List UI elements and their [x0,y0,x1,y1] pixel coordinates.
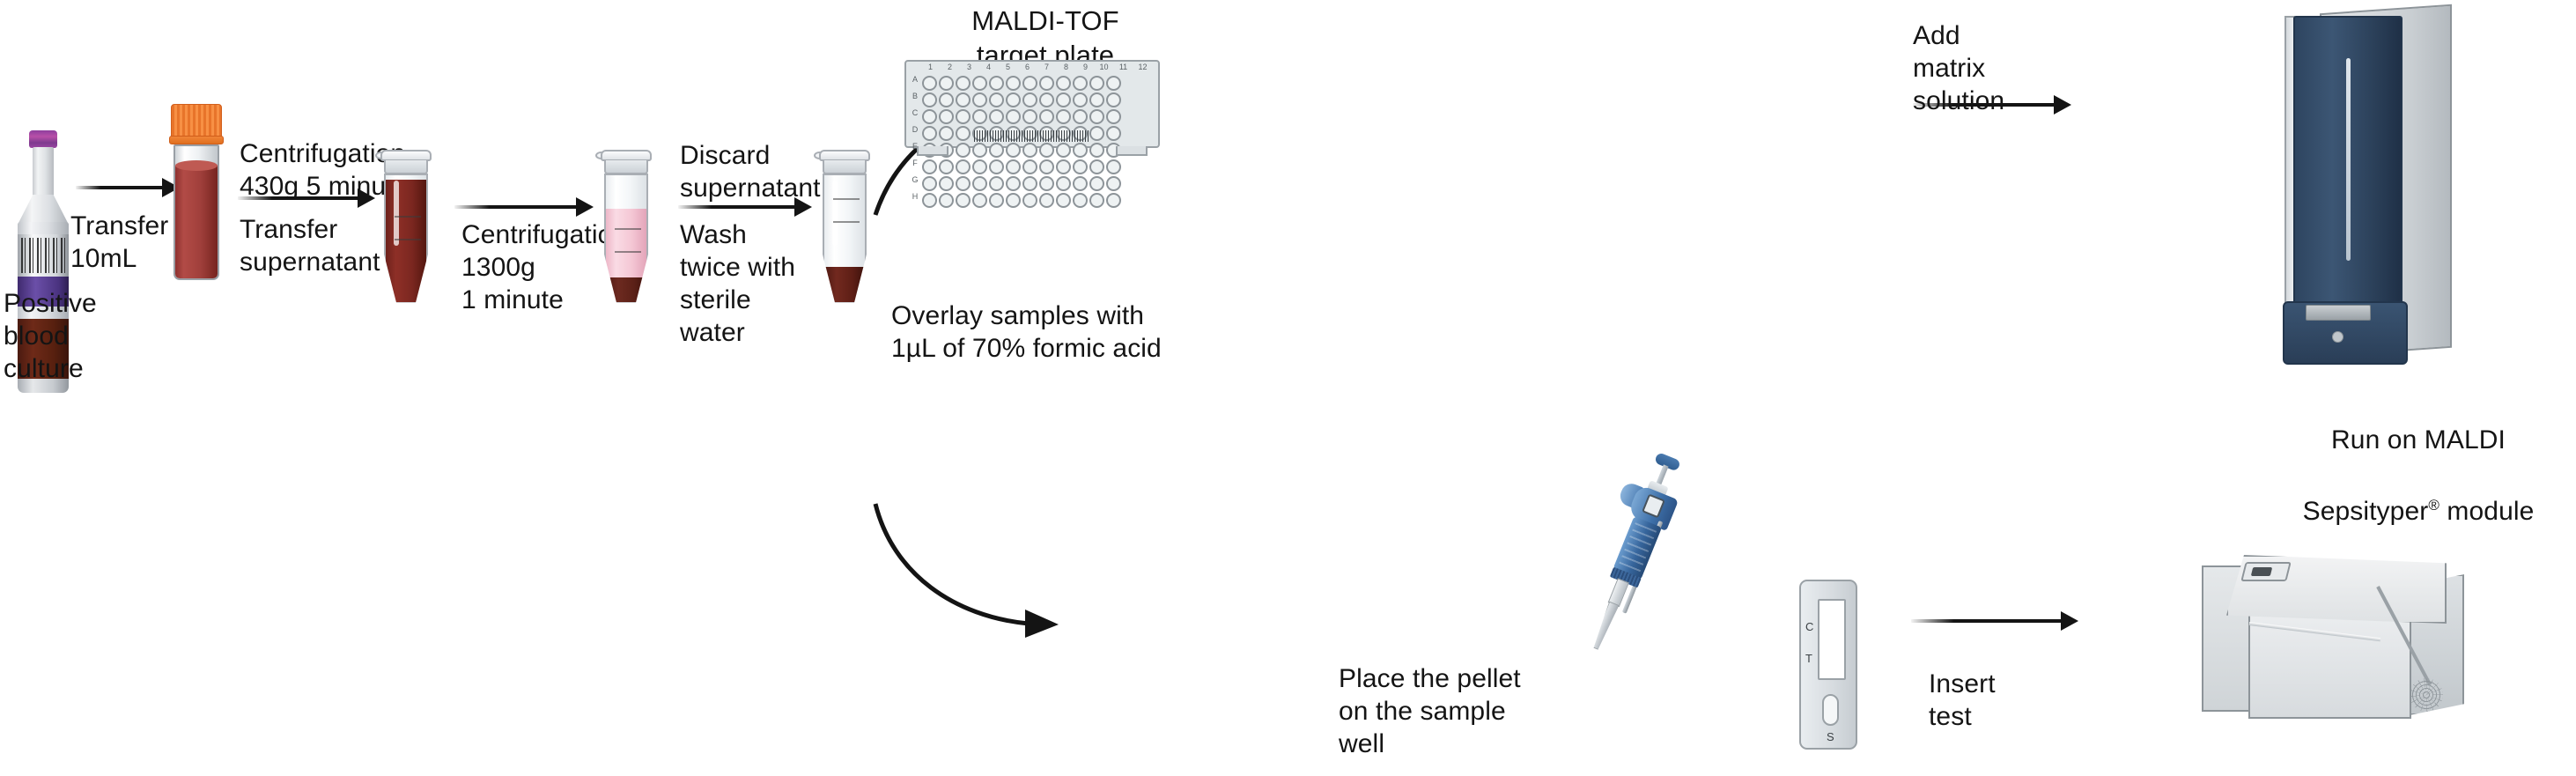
plate-well-H12[interactable] [1106,193,1121,208]
plate-well-B12[interactable] [1106,92,1121,107]
arrow-transfer [76,178,180,197]
tube-blood-fill [175,166,218,278]
label-add-matrix-solution: Add matrix solution [1913,19,2071,117]
tube-collar [384,160,428,174]
plate-well-G10[interactable] [1073,176,1088,191]
plate-well-H3[interactable] [956,193,971,208]
plate-well-C9[interactable] [1056,109,1071,124]
tube-body [604,174,648,304]
workflow-diagram: Positive blood culture Transfer 10mL Cen… [0,0,2576,776]
tube-cap-icon [171,104,222,139]
microcentrifuge-tube-dark-icon [379,150,433,304]
plate-well-E8[interactable] [1039,143,1054,158]
plate-well-E6[interactable] [1006,143,1021,158]
maldi-target-plate-icon[interactable]: 1 2 3 4 5 6 7 8 9 10 11 12 A B C D E F G… [904,60,1160,148]
plate-well-A8[interactable] [1039,76,1054,91]
plate-well-B4[interactable] [972,92,987,107]
plate-well-E11[interactable] [1089,143,1104,158]
tube-collar [604,160,648,174]
microcentrifuge-tube-pellet-icon [817,150,872,304]
plate-well-A9[interactable] [1056,76,1071,91]
plate-well-C11[interactable] [1089,109,1104,124]
plate-well-B3[interactable] [956,92,971,107]
plate-well-B2[interactable] [939,92,954,107]
plate-well-H5[interactable] [989,193,1004,208]
tube-fill-dark-red [386,180,426,302]
plate-well-G11[interactable] [1089,176,1104,191]
plate-well-H10[interactable] [1073,193,1088,208]
plate-well-C6[interactable] [1006,109,1021,124]
plate-well-H4[interactable] [972,193,987,208]
plate-well-B9[interactable] [1056,92,1071,107]
cassette-sample-well [1822,694,1839,726]
plate-well-A4[interactable] [972,76,987,91]
tube-body [173,144,219,280]
plate-well-C4[interactable] [972,109,987,124]
plate-well-G1[interactable] [922,176,937,191]
plate-well-B1[interactable] [922,92,937,107]
tube-pellet [824,267,865,302]
label-transfer-supernatant: Transfer supernatant [240,213,469,278]
plate-well-B7[interactable] [1022,92,1037,107]
pipette-tip-icon [1591,602,1619,651]
plate-well-C12[interactable] [1106,109,1121,124]
instrument-indicator-icon [2332,331,2343,343]
label-insert-test: Insert test [1929,668,2078,733]
tube-body [823,174,867,304]
plate-well-D2[interactable] [939,126,954,141]
plate-well-H6[interactable] [1006,193,1021,208]
plate-well-A1[interactable] [922,76,937,91]
plate-well-G4[interactable] [972,176,987,191]
plate-well-C10[interactable] [1073,109,1088,124]
tube-graduation [615,251,641,253]
plate-foot [917,146,948,156]
tube-body [384,174,428,304]
plate-well-C8[interactable] [1039,109,1054,124]
plate-well-grid[interactable] [922,76,1121,208]
arrow-insert-test [1911,611,2078,631]
instrument-sample-tray [2306,305,2371,321]
plate-well-B10[interactable] [1073,92,1088,107]
plate-well-B8[interactable] [1039,92,1054,107]
plate-well-C5[interactable] [989,109,1004,124]
plate-well-B11[interactable] [1089,92,1104,107]
reader-fan-grille-icon [2410,678,2443,712]
plate-well-A6[interactable] [1006,76,1021,91]
cassette-sample-mark: S [1827,730,1834,743]
plate-well-E9[interactable] [1056,143,1071,158]
label-centrifugation-430g: Centrifugation 430g 5 minutes [240,137,495,203]
label-overlay-formic-acid: Overlay samples with 1µL of 70% formic a… [891,299,1279,365]
tube-collar [823,160,867,174]
plate-well-E3[interactable] [956,143,971,158]
registered-mark: ® [2428,497,2439,514]
micropipette-icon [1566,446,1739,673]
plate-well-F9[interactable] [1056,159,1071,174]
plate-well-A3[interactable] [956,76,971,91]
plate-well-G2[interactable] [939,176,954,191]
test-reader-instrument-icon [2202,555,2466,731]
plate-well-D1[interactable] [922,126,937,141]
plate-well-C3[interactable] [956,109,971,124]
plate-well-G5[interactable] [989,176,1004,191]
plate-well-F6[interactable] [1006,159,1021,174]
tube-graduation [615,228,641,230]
plate-well-C1[interactable] [922,109,937,124]
plate-well-H9[interactable] [1056,193,1071,208]
plate-well-C2[interactable] [939,109,954,124]
reader-cassette-slot[interactable] [2240,562,2291,581]
plate-well-H11[interactable] [1089,193,1104,208]
instrument-front-door [2293,16,2403,307]
plate-well-G6[interactable] [1006,176,1021,191]
plate-well-E7[interactable] [1022,143,1037,158]
plate-well-G9[interactable] [1056,176,1071,191]
plate-well-D12[interactable] [1106,126,1121,141]
bottle-neck [33,147,54,198]
plate-well-G3[interactable] [956,176,971,191]
plate-well-E4[interactable] [972,143,987,158]
microcentrifuge-tube-pink-icon [599,150,653,304]
reader-front-panel [2248,606,2411,719]
plate-well-F1[interactable] [922,159,937,174]
plate-well-F11[interactable] [1089,159,1104,174]
arrow-centrifugation-2 [454,197,594,217]
plate-well-C7[interactable] [1022,109,1037,124]
cassette-test-mark: T [1805,652,1812,665]
plate-well-G12[interactable] [1106,176,1121,191]
plate-well-H8[interactable] [1039,193,1054,208]
plate-well-G8[interactable] [1039,176,1054,191]
tube-highlight [394,181,399,246]
caption-line-1: Run on MALDI [2331,425,2506,455]
tube-graduation [395,239,421,240]
bottle-cap-icon [29,130,57,148]
plate-well-A11[interactable] [1089,76,1104,91]
plate-well-F2[interactable] [939,159,954,174]
instrument-light-stripe [2346,58,2351,261]
lateral-flow-cassette-icon: C T S [1799,580,1857,750]
plate-foot [1116,146,1148,156]
plate-well-F3[interactable] [956,159,971,174]
plate-well-H7[interactable] [1022,193,1037,208]
caption-line-2-pre: Sepsityper [2303,497,2429,526]
reader-slot-opening [2251,567,2272,576]
plate-well-A2[interactable] [939,76,954,91]
tube-pellet [606,277,646,302]
label-transfer-10ml: Transfer 10mL [70,210,185,275]
plate-well-A7[interactable] [1022,76,1037,91]
plate-well-E5[interactable] [989,143,1004,158]
cassette-control-mark: C [1805,620,1813,633]
plate-well-A5[interactable] [989,76,1004,91]
cassette-result-window [1818,599,1846,680]
plate-well-D11[interactable] [1089,126,1104,141]
plate-well-F8[interactable] [1039,159,1054,174]
plate-well-F7[interactable] [1022,159,1037,174]
tube-graduation [833,198,860,200]
plate-well-H2[interactable] [939,193,954,208]
tube-graduation [833,221,860,223]
plate-barcode-icon [974,130,1090,142]
screw-cap-tube-icon [171,104,222,280]
bottle-shoulder [18,195,69,225]
plate-well-B5[interactable] [989,92,1004,107]
branch-arrow-down [870,493,1081,661]
plate-well-H1[interactable] [922,193,937,208]
plate-well-A12[interactable] [1106,76,1121,91]
plate-well-F5[interactable] [989,159,1004,174]
plate-well-F4[interactable] [972,159,987,174]
maldi-sepsityper-instrument-icon [2281,4,2475,373]
tube-highlight [832,181,838,246]
caption-run-on-maldi: Run on MALDI Sepsityper® module [2260,391,2576,528]
barcode-icon [21,238,65,273]
caption-line-2-post: module [2439,497,2534,526]
plate-well-D3[interactable] [956,126,971,141]
label-place-pellet: Place the pellet on the sample well [1339,662,1620,760]
plate-well-A10[interactable] [1073,76,1088,91]
plate-well-B6[interactable] [1006,92,1021,107]
plate-well-F12[interactable] [1106,159,1121,174]
plate-well-E10[interactable] [1073,143,1088,158]
plate-well-F10[interactable] [1073,159,1088,174]
plate-well-G7[interactable] [1022,176,1037,191]
tube-graduation [395,216,421,218]
caption-positive-blood-culture: Positive blood culture [4,287,215,385]
